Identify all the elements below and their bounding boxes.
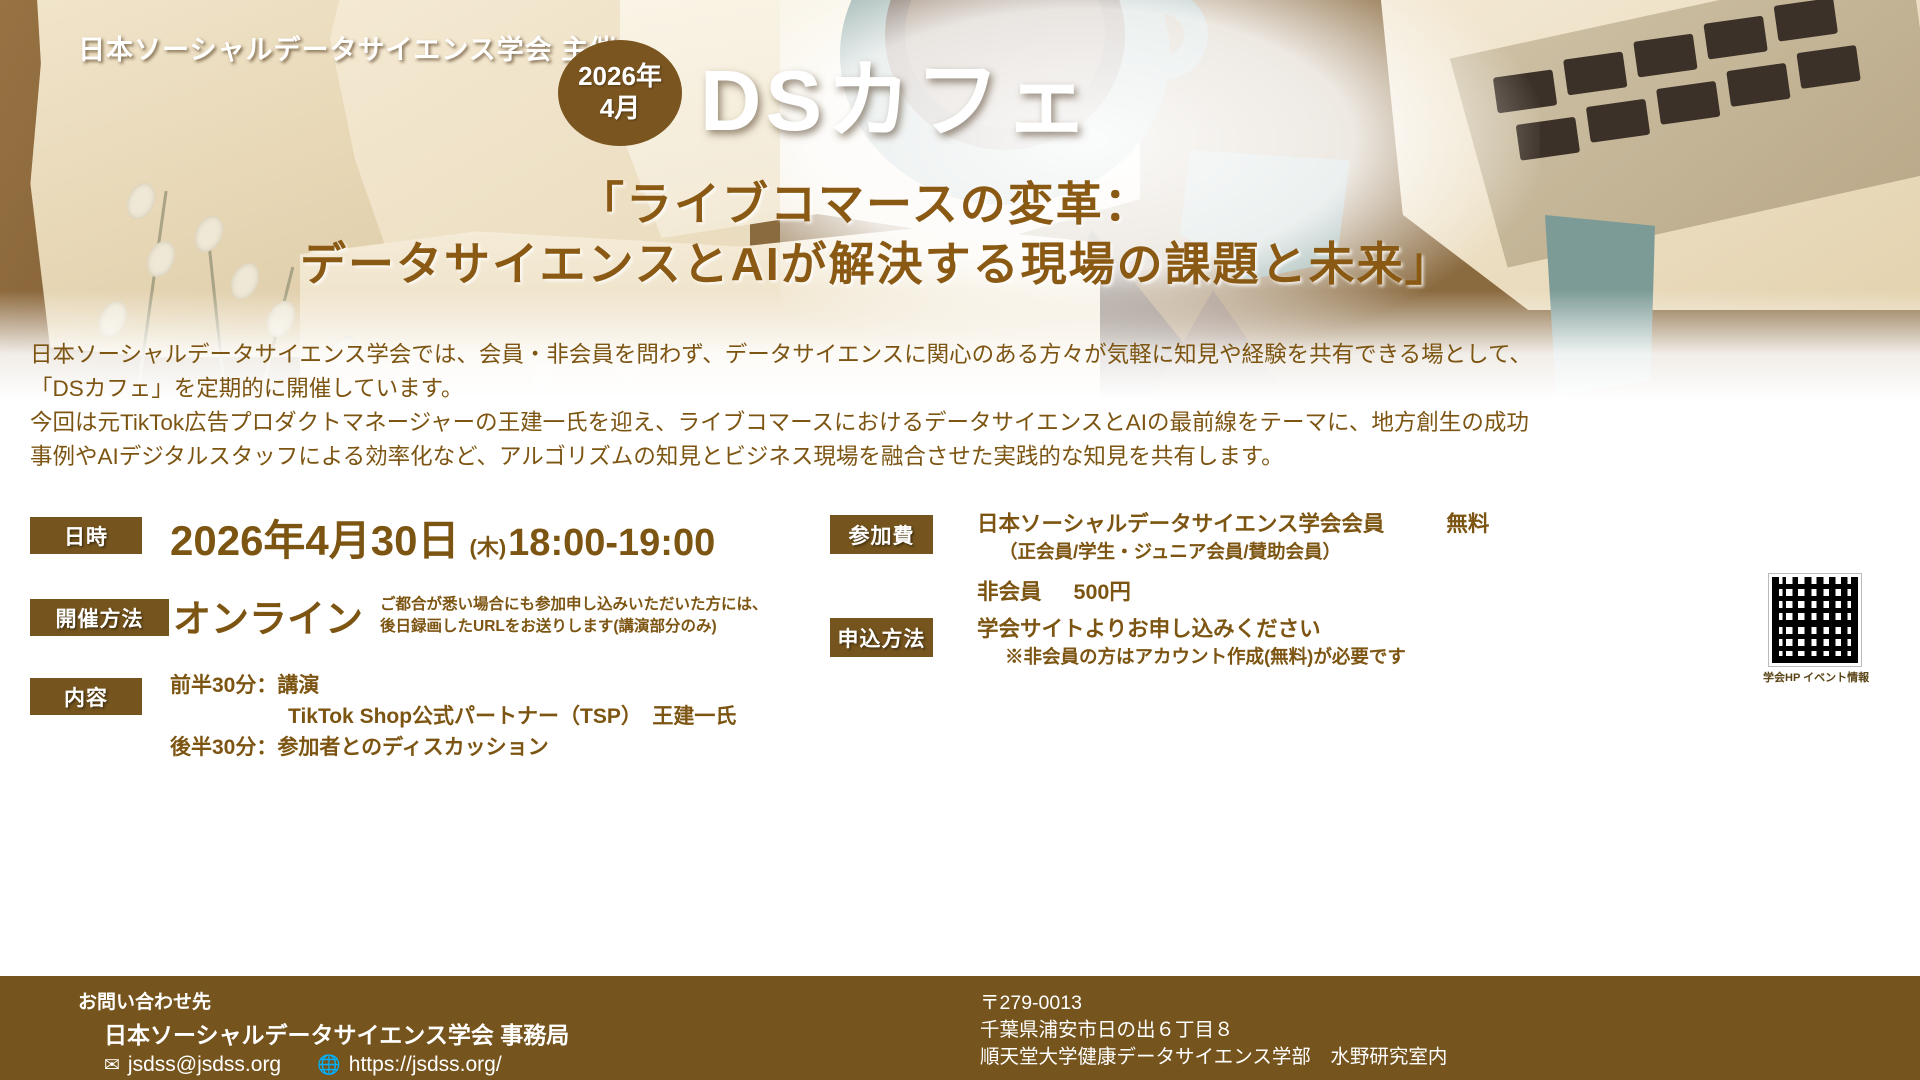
brand-title: DSカフェ [700, 32, 1093, 155]
footer-address-line-2: 千葉県浦安市日の出６丁目８ [980, 1017, 1447, 1044]
contents-line-1: 前半30分：講演 [170, 670, 736, 701]
label-fee: 参加費 [830, 515, 933, 554]
fee-member-price: 無料 [1390, 512, 1489, 536]
datetime-date: 2026年4月30日 [170, 507, 460, 568]
footer-organization: 日本ソーシャルデータサイエンス学会 事務局 [78, 1016, 569, 1050]
qr-code-image[interactable] [1769, 574, 1861, 666]
qr-code-label: 学会HP イベント情報 [1763, 669, 1867, 685]
apply-line-1: 学会サイトよりお申し込みください [977, 615, 1406, 643]
laptop-key [1586, 99, 1650, 143]
footer-contact-block: お問い合わせ先 日本ソーシャルデータサイエンス学会 事務局 ✉jsdss@jsd… [78, 987, 569, 1077]
label-contents: 内容 [30, 678, 142, 715]
laptop-key [1656, 81, 1720, 125]
qr-code-block[interactable]: 学会HP イベント情報 [1763, 574, 1867, 685]
date-badge-month: 4月 [600, 93, 640, 125]
contents-line-2: TikTok Shop公式パートナー（TSP） 王建一氏 [170, 701, 736, 732]
intro-paragraph: 日本ソーシャルデータサイエンス学会では、会員・非会員を問わず、データサイエンスに… [30, 338, 1890, 474]
fee-member-row: 日本ソーシャルデータサイエンス学会会員 無料 [977, 510, 1489, 538]
intro-line-2: 「DSカフェ」を定期的に開催しています。 [30, 372, 1890, 406]
fee-member-label: 日本ソーシャルデータサイエンス学会会員 [977, 512, 1384, 536]
laptop-key [1774, 0, 1838, 42]
laptop-key [1633, 34, 1697, 78]
intro-line-1: 日本ソーシャルデータサイエンス学会では、会員・非会員を問わず、データサイエンスに… [30, 338, 1890, 372]
laptop-key [1703, 16, 1767, 60]
method-note-line-2: 後日録画したURLをお送りします(講演部分のみ) [380, 616, 768, 638]
fee-member-sub: （正会員/学生・ジュニア会員/賛助会員） [977, 538, 1489, 566]
method-note-line-1: ご都合が悉い場合にも参加申し込みいただいた方には、 [380, 594, 768, 616]
fee-nonmember-row: 非会員 500円 [977, 578, 1489, 606]
footer-email[interactable]: jsdss@jsdss.org [128, 1053, 281, 1076]
apply-line-2: ※非会員の方はアカウント作成(無料)が必要です [977, 643, 1406, 671]
event-title-line-1: 「ライブコマースの変革： [578, 168, 1152, 234]
datetime-dayofweek: (木) [470, 530, 507, 562]
footer-website-item[interactable]: 🌐https://jsdss.org/ [317, 1053, 502, 1077]
date-badge: 2026年 4月 [558, 40, 682, 146]
laptop-key [1726, 63, 1790, 107]
organizer-label: 日本ソーシャルデータサイエンス学会 主催 [78, 28, 617, 67]
intro-line-4: 事例やAIデジタルスタッフによる効率化など、アルゴリズムの知見とビジネス現場を融… [30, 440, 1890, 474]
method-note: ご都合が悉い場合にも参加申し込みいただいた方には、 後日録画したURLをお送りし… [380, 594, 768, 638]
laptop-key [1796, 45, 1860, 89]
value-method: オンライン [173, 588, 363, 643]
footer-postal-code: 〒279-0013 [980, 990, 1447, 1017]
value-datetime: 2026年4月30日 (木) 18:00-19:00 [170, 507, 715, 568]
fee-nonmember-price: 500円 [1048, 580, 1131, 604]
globe-icon: 🌐 [317, 1055, 341, 1076]
footer-contact-row: ✉jsdss@jsdss.org 🌐https://jsdss.org/ [78, 1053, 569, 1077]
value-apply: 学会サイトよりお申し込みください ※非会員の方はアカウント作成(無料)が必要です [977, 615, 1406, 671]
footer-bar: お問い合わせ先 日本ソーシャルデータサイエンス学会 事務局 ✉jsdss@jsd… [0, 976, 1920, 1080]
laptop-key [1563, 51, 1627, 95]
label-method: 開催方法 [30, 599, 169, 636]
label-datetime: 日時 [30, 517, 142, 554]
footer-contact-heading: お問い合わせ先 [78, 987, 569, 1014]
footer-address-block: 〒279-0013 千葉県浦安市日の出６丁目８ 順天堂大学健康データサイエンス学… [980, 990, 1447, 1071]
label-apply: 申込方法 [830, 618, 933, 657]
intro-line-3: 今回は元TikTok広告プロダクトマネージャーの王建一氏を迎え、ライブコマースに… [30, 406, 1890, 440]
event-title-line-2: データサイエンスとAIが解決する現場の課題と未来」 [300, 228, 1453, 294]
contents-line-3: 後半30分：参加者とのディスカッション [170, 732, 736, 763]
date-badge-year: 2026年 [578, 61, 662, 93]
envelope-icon: ✉ [104, 1055, 120, 1076]
footer-address-line-3: 順天堂大学健康データサイエンス学部 水野研究室内 [980, 1044, 1447, 1071]
value-contents: 前半30分：講演 TikTok Shop公式パートナー（TSP） 王建一氏 後半… [170, 670, 736, 763]
footer-email-item[interactable]: ✉jsdss@jsdss.org [104, 1053, 281, 1077]
datetime-time: 18:00-19:00 [508, 522, 715, 565]
value-fee: 日本ソーシャルデータサイエンス学会会員 無料 （正会員/学生・ジュニア会員/賛助… [977, 510, 1489, 606]
fee-nonmember-label: 非会員 [977, 580, 1042, 604]
footer-website[interactable]: https://jsdss.org/ [349, 1053, 502, 1076]
